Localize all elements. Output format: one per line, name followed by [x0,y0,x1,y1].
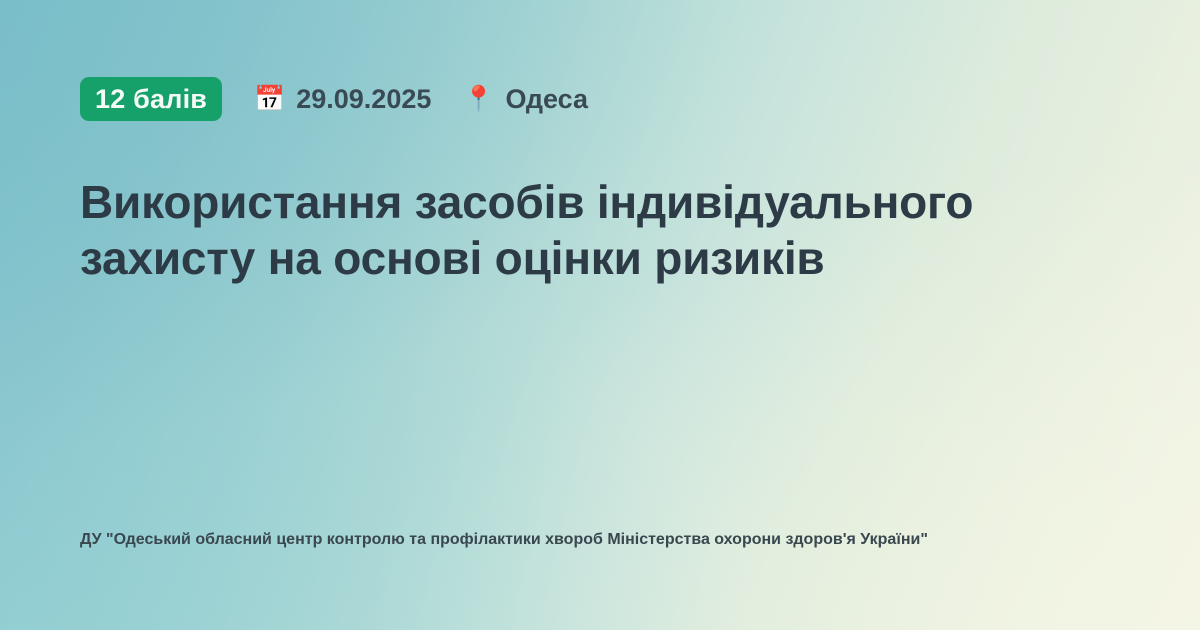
event-date-value: 29.09.2025 [296,86,431,113]
event-location: 📍 Одеса [463,86,588,113]
score-badge: 12 балів [80,77,222,121]
event-location-value: Одеса [506,86,589,113]
calendar-icon: 📅 [254,87,285,112]
meta-row: 12 балів 📅 29.09.2025 📍 Одеса [80,76,1120,122]
event-date: 📅 29.09.2025 [254,86,431,113]
event-card: 12 балів 📅 29.09.2025 📍 Одеса Використан… [0,0,1200,630]
page-title: Використання засобів індивідуального зах… [80,174,1040,286]
organizer-name: ДУ "Одеський обласний центр контролю та … [80,527,980,552]
map-pin-icon: 📍 [463,87,494,112]
